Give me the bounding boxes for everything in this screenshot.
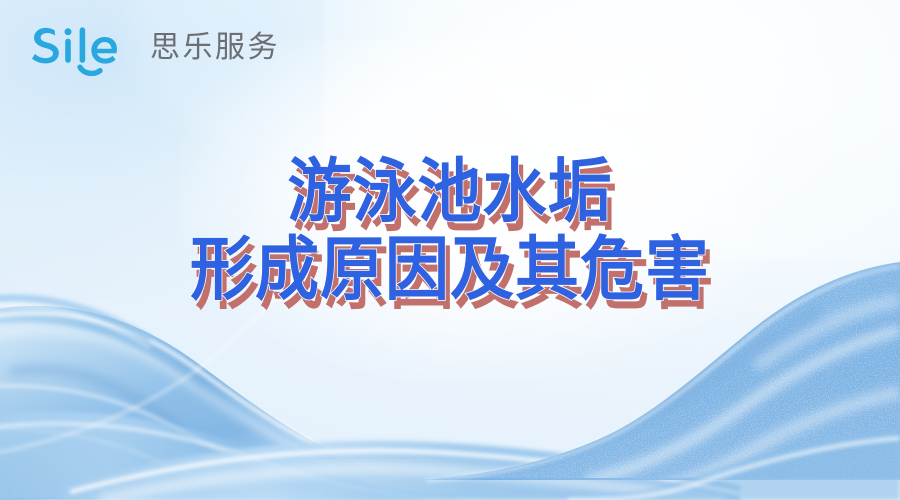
promo-banner: 思乐服务 游泳池水垢 游泳池水垢 形成原因及其危害 形成原因及其危害 [0, 0, 900, 500]
brand-chinese-name: 思乐服务 [150, 33, 280, 66]
sile-wordmark-icon [30, 22, 138, 76]
brand-logo[interactable]: 思乐服务 [30, 22, 280, 76]
